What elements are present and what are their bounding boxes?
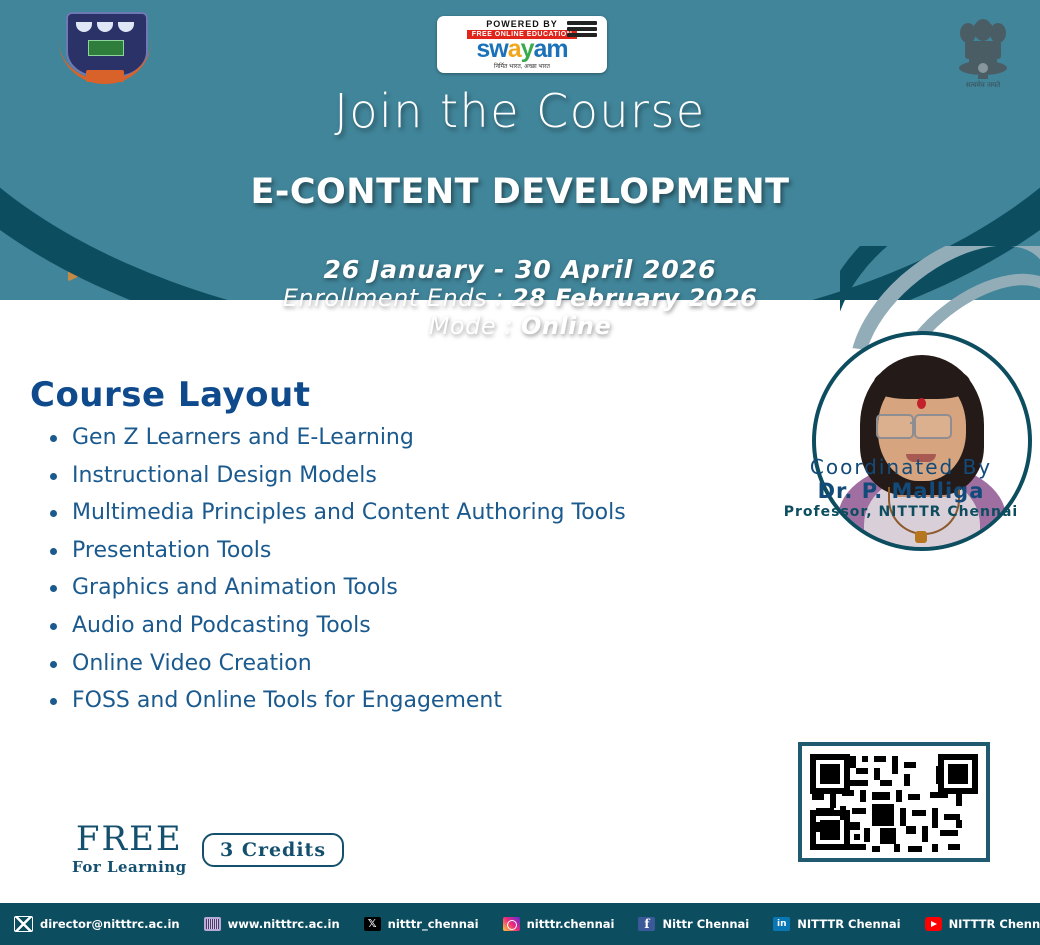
coordinator-name: Dr. P. Malliga	[762, 479, 1040, 503]
enrollment-label: Enrollment Ends :	[283, 284, 512, 312]
footer-youtube-label: NITTTR Chennai	[949, 917, 1040, 931]
join-the-course-title: Join the Course	[0, 84, 1040, 138]
free-label: FREE	[72, 822, 187, 856]
coordinated-by-label: Coordinated By	[762, 455, 1040, 479]
swayam-books-icon	[567, 21, 597, 41]
footer-youtube[interactable]: NITTTR Chennai	[925, 917, 1040, 931]
footer-x-twitter[interactable]: 𝕏 nitttr_chennai	[364, 917, 479, 931]
footer-facebook[interactable]: f Nittr Chennai	[638, 917, 749, 931]
email-icon	[14, 916, 33, 932]
footer-x-label: nitttr_chennai	[388, 917, 479, 931]
footer-instagram[interactable]: nitttr.chennai	[503, 917, 615, 931]
footer-website-label: www.nitttrc.ac.in	[228, 917, 340, 931]
list-item: Graphics and Animation Tools	[42, 574, 682, 603]
course-poster: POWERED BY FREE ONLINE EDUCATION swayam …	[0, 0, 1040, 945]
course-layout-list: Gen Z Learners and E-Learning Instructio…	[42, 424, 682, 725]
list-item: Online Video Creation	[42, 650, 682, 679]
swayam-powered-by: POWERED BY	[486, 19, 558, 29]
footer-email-label: director@nitttrc.ac.in	[40, 917, 180, 931]
footer-website[interactable]: www.nitttrc.ac.in	[204, 917, 340, 931]
facebook-icon: f	[638, 917, 655, 931]
coordinator-role: Professor, NITTTR Chennai	[762, 504, 1040, 520]
swayam-logo: POWERED BY FREE ONLINE EDUCATION swayam …	[437, 16, 607, 73]
footer-contact-bar: director@nitttrc.ac.in www.nitttrc.ac.in…	[0, 903, 1040, 945]
list-item: Presentation Tools	[42, 537, 682, 566]
free-badge: FREE For Learning	[72, 822, 187, 876]
linkedin-icon: in	[773, 917, 790, 931]
course-layout-heading: Course Layout	[30, 375, 310, 415]
qr-code-icon[interactable]	[798, 742, 990, 862]
list-item: FOSS and Online Tools for Engagement	[42, 687, 682, 716]
list-item: Gen Z Learners and E-Learning	[42, 424, 682, 453]
footer-linkedin[interactable]: in NITTTR Chennai	[773, 917, 900, 931]
footer-instagram-label: nitttr.chennai	[527, 917, 615, 931]
x-twitter-icon: 𝕏	[364, 917, 381, 931]
enrollment-date: 28 February 2026	[512, 284, 758, 312]
credits-badge: 3 Credits	[202, 833, 344, 867]
coordinator-photo	[812, 331, 1024, 453]
mode-label: Mode :	[429, 312, 521, 340]
list-item: Audio and Podcasting Tools	[42, 612, 682, 641]
ashoka-emblem-icon: सत्यमेव जयते	[948, 8, 1018, 90]
website-icon	[204, 917, 221, 931]
swayam-hindi-tagline: निर्मित भारत, अच्छा भारत	[494, 62, 550, 70]
youtube-icon	[925, 917, 942, 931]
footer-facebook-label: Nittr Chennai	[662, 917, 749, 931]
qr-code-pattern	[808, 752, 980, 852]
mode-value: Online	[521, 312, 611, 340]
footer-email[interactable]: director@nitttrc.ac.in	[14, 916, 180, 932]
free-sublabel: For Learning	[72, 858, 187, 876]
list-item: Instructional Design Models	[42, 462, 682, 491]
list-item: Multimedia Principles and Content Author…	[42, 499, 682, 528]
footer-linkedin-label: NITTTR Chennai	[797, 917, 900, 931]
instagram-icon	[503, 917, 520, 931]
swayam-wordmark: swayam	[476, 38, 567, 62]
nitttr-crest-icon	[56, 8, 154, 82]
course-title: E-CONTENT DEVELOPMENT	[0, 172, 1040, 212]
